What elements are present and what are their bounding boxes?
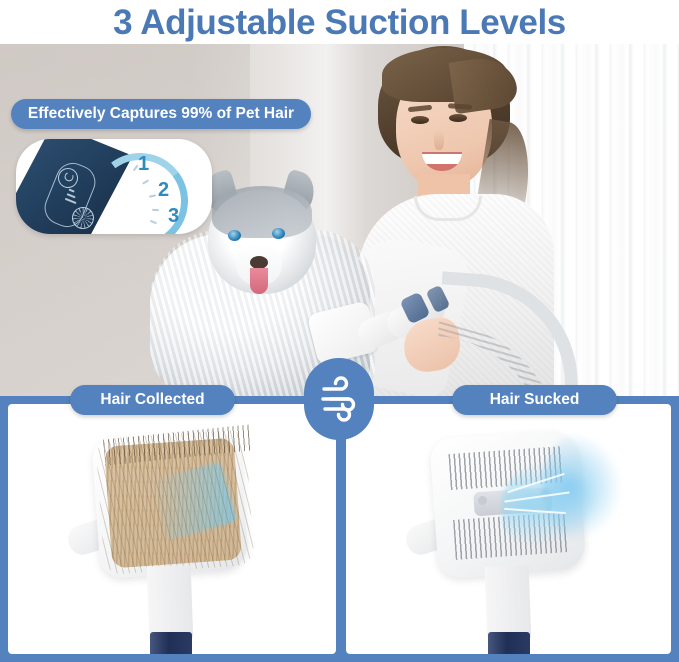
suction-dial-card: 1 2 3 [16, 139, 212, 234]
pet-hair-capture-badge: Effectively Captures 99% of Pet Hair [11, 99, 311, 129]
brush-navy-grip [488, 632, 530, 654]
hair-sucked-label: Hair Sucked [452, 385, 617, 415]
dog-eye-right [272, 228, 285, 239]
product-infographic: 3 Adjustable Suction Levels [0, 0, 679, 662]
brush-handle [485, 565, 532, 640]
wind-icon-badge [304, 358, 374, 440]
suction-airflow-halo [542, 432, 622, 542]
dog-eye-left [228, 230, 241, 241]
nose [434, 130, 444, 150]
suction-level-1: 1 [138, 153, 149, 176]
hero-photo: Effectively Captures 99% of Pet Hair 1 2… [0, 44, 679, 396]
dog-tongue [250, 268, 268, 294]
suction-level-3: 3 [168, 205, 179, 228]
brush-handle [147, 565, 194, 640]
hair-collected-panel [8, 404, 336, 654]
suction-level-2: 2 [158, 179, 169, 202]
brush-with-hair [8, 404, 336, 654]
brush-vent-hole-left [478, 496, 487, 505]
brush-navy-grip [150, 632, 192, 654]
hair-collected-label: Hair Collected [70, 385, 235, 415]
page-title: 3 Adjustable Suction Levels [0, 0, 679, 46]
dog-head-marking [212, 186, 312, 238]
clean-brush [346, 404, 671, 654]
eye-right [449, 114, 467, 122]
wind-icon [317, 374, 361, 424]
eye-left [411, 116, 429, 124]
collected-hair-fuzz [95, 429, 254, 575]
hair-sucked-panel [346, 404, 671, 654]
